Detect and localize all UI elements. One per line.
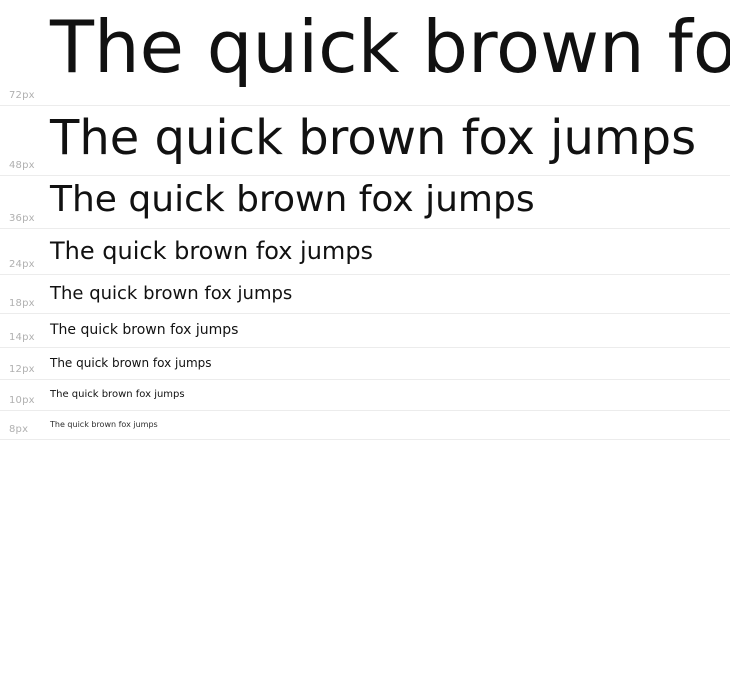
specimen-row-48px: 48px The quick brown fox jumps [0, 106, 730, 176]
specimen-row-8px: 8px The quick brown fox jumps [0, 411, 730, 440]
size-ladder-list: 72px The quick brown fox jumps 48px The … [0, 0, 730, 440]
size-label-24px: 24px [9, 259, 35, 271]
specimen-row-12px: 12px The quick brown fox jumps [0, 348, 730, 380]
size-label-10px: 10px [9, 395, 35, 407]
sample-text-18px: The quick brown fox jumps [50, 285, 292, 303]
size-label-12px: 12px [9, 364, 35, 376]
size-label-36px: 36px [9, 213, 35, 225]
specimen-row-18px: 18px The quick brown fox jumps [0, 275, 730, 314]
specimen-row-24px: 24px The quick brown fox jumps [0, 229, 730, 275]
specimen-row-10px: 10px The quick brown fox jumps [0, 380, 730, 411]
sample-text-48px: The quick brown fox jumps [50, 114, 696, 162]
size-label-18px: 18px [9, 298, 35, 310]
sample-text-12px: The quick brown fox jumps [50, 357, 212, 369]
sample-text-8px: The quick brown fox jumps [50, 421, 158, 429]
font-specimen-sheet: 72px The quick brown fox jumps 48px The … [0, 0, 730, 700]
specimen-row-36px: 36px The quick brown fox jumps [0, 176, 730, 229]
sample-text-36px: The quick brown fox jumps [50, 182, 535, 218]
specimen-row-72px: 72px The quick brown fox jumps [0, 0, 730, 106]
specimen-row-14px: 14px The quick brown fox jumps [0, 314, 730, 348]
size-label-48px: 48px [9, 160, 35, 172]
size-label-72px: 72px [9, 90, 35, 102]
sample-text-72px: The quick brown fox jumps [50, 11, 730, 83]
size-label-14px: 14px [9, 332, 35, 344]
sample-text-14px: The quick brown fox jumps [50, 323, 238, 337]
empty-page-area [0, 440, 730, 700]
sample-text-24px: The quick brown fox jumps [50, 239, 373, 263]
sample-text-10px: The quick brown fox jumps [50, 390, 185, 400]
size-label-8px: 8px [9, 424, 28, 436]
